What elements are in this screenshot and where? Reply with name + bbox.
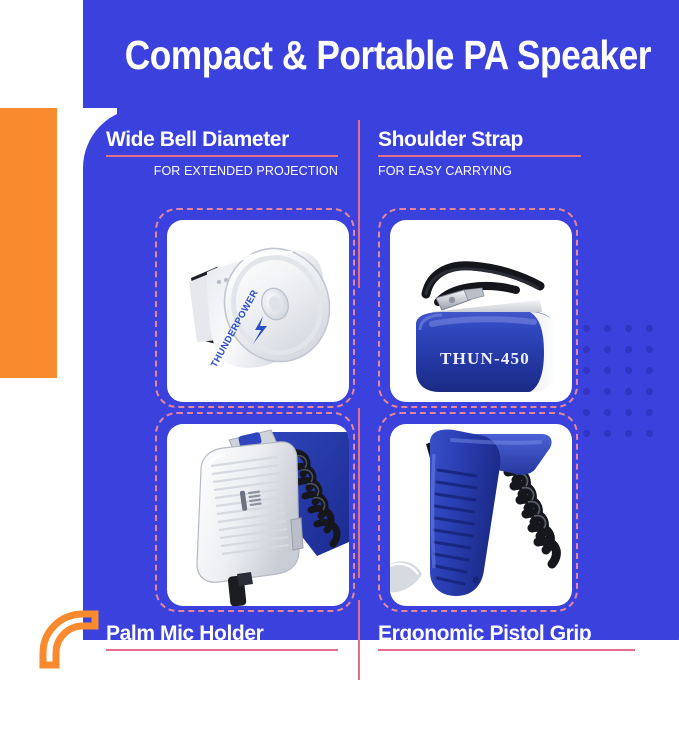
column-divider-middle bbox=[358, 408, 360, 578]
feature-photo-frame-ergonomic-pistol-grip bbox=[378, 412, 578, 612]
grid-dot bbox=[625, 325, 632, 332]
grid-dot bbox=[583, 388, 590, 395]
grid-dot bbox=[604, 346, 611, 353]
feature-subtitle: FOR EXTENDED PROJECTION bbox=[106, 164, 338, 179]
grid-dot bbox=[646, 409, 653, 416]
orange-accent-bar bbox=[0, 108, 57, 378]
feature-heading-ergonomic-pistol-grip: Ergonomic Pistol Grip FOR BETTER FEEL AN… bbox=[378, 622, 635, 673]
grid-dot bbox=[583, 367, 590, 374]
feature-title: Shoulder Strap bbox=[378, 128, 581, 152]
shoulder-strap-photo: THUN-450 bbox=[390, 220, 572, 402]
grid-dot bbox=[583, 430, 590, 437]
grid-dot bbox=[625, 409, 632, 416]
grid-dot bbox=[625, 346, 632, 353]
feature-underline bbox=[378, 155, 581, 157]
grid-dot bbox=[625, 388, 632, 395]
grid-dot bbox=[604, 388, 611, 395]
model-label-text: THUN-450 bbox=[440, 349, 530, 368]
orange-quarter-pipe-decoration bbox=[37, 607, 106, 671]
grid-dot bbox=[604, 367, 611, 374]
grid-dot bbox=[646, 367, 653, 374]
grid-dot bbox=[583, 346, 590, 353]
feature-photo-frame-shoulder-strap: THUN-450 bbox=[378, 208, 578, 408]
feature-title: Wide Bell Diameter bbox=[106, 128, 338, 152]
page-title: Compact & Portable PA Speaker bbox=[125, 33, 638, 77]
feature-subtitle: FOR EASY CARRYING bbox=[378, 164, 581, 179]
feature-subtitle: FOR BETTER FEEL AND HANDLING bbox=[378, 658, 635, 673]
grid-dot bbox=[583, 409, 590, 416]
grid-dot bbox=[604, 325, 611, 332]
palm-mic-photo bbox=[167, 424, 349, 606]
grid-dot bbox=[646, 346, 653, 353]
pistol-grip-photo bbox=[390, 424, 572, 606]
infographic-canvas: Compact & Portable PA Speaker Wide Bell … bbox=[0, 0, 679, 729]
feature-heading-palm-mic-holder: Palm Mic Holder FOR ADDED CONVENIENCE bbox=[106, 622, 338, 673]
megaphone-bell-photo: THUNDERPOWER bbox=[167, 220, 349, 402]
column-divider-bottom bbox=[358, 600, 360, 680]
grid-dot bbox=[625, 430, 632, 437]
grid-dot bbox=[625, 367, 632, 374]
feature-underline bbox=[378, 649, 635, 651]
feature-heading-shoulder-strap: Shoulder Strap FOR EASY CARRYING bbox=[378, 128, 581, 179]
feature-subtitle: FOR ADDED CONVENIENCE bbox=[106, 658, 338, 673]
feature-title: Ergonomic Pistol Grip bbox=[378, 622, 635, 646]
grid-dot bbox=[604, 430, 611, 437]
feature-photo-frame-palm-mic-holder bbox=[155, 412, 355, 612]
grid-dot bbox=[604, 409, 611, 416]
feature-underline bbox=[106, 155, 338, 157]
column-divider-top bbox=[358, 120, 360, 288]
feature-underline bbox=[106, 649, 338, 651]
grid-dot bbox=[646, 325, 653, 332]
feature-photo-frame-wide-bell-diameter: THUNDERPOWER bbox=[155, 208, 355, 408]
grid-dot bbox=[646, 388, 653, 395]
grid-dot bbox=[583, 325, 590, 332]
feature-title: Palm Mic Holder bbox=[106, 622, 338, 646]
grid-dot bbox=[646, 430, 653, 437]
feature-heading-wide-bell-diameter: Wide Bell Diameter FOR EXTENDED PROJECTI… bbox=[106, 128, 338, 179]
